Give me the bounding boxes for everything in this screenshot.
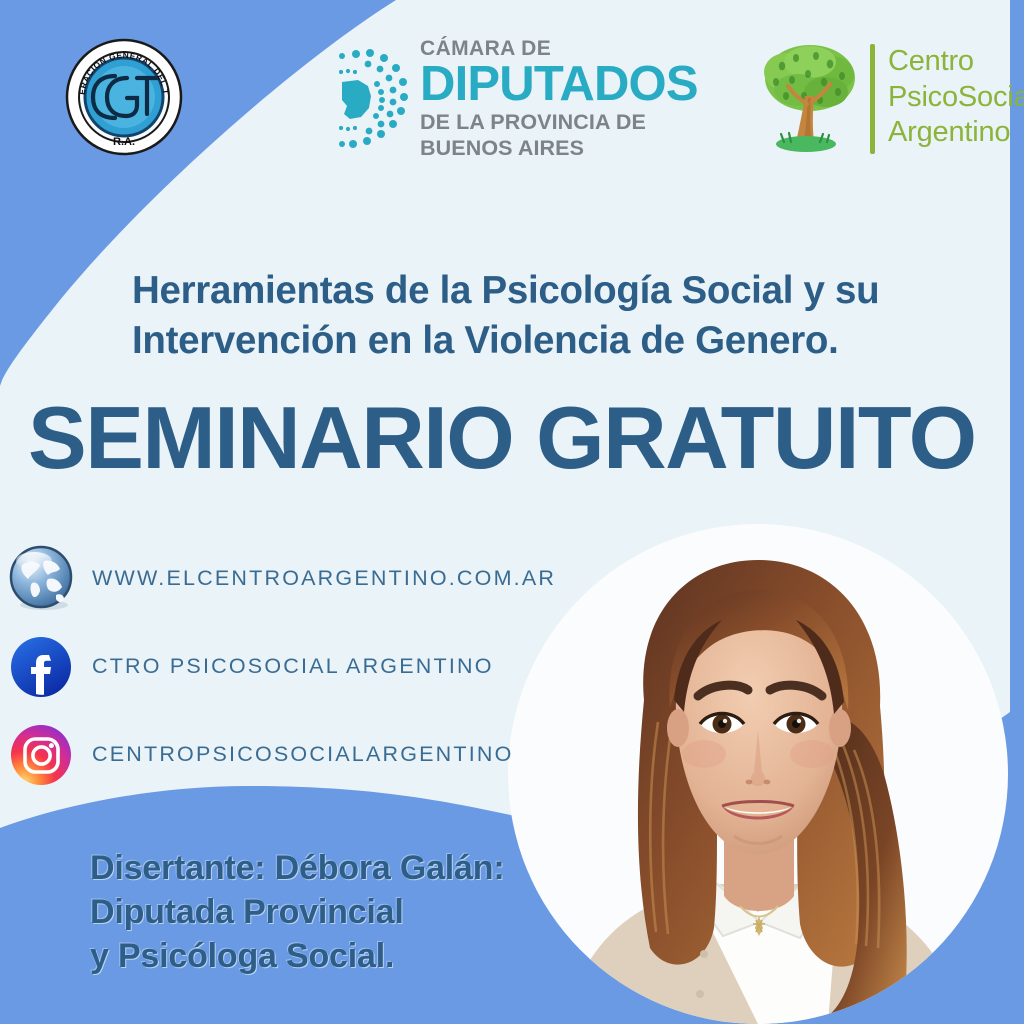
speaker-line3: y Psicóloga Social. xyxy=(90,934,560,978)
centro-line3: Argentino xyxy=(888,115,1024,151)
facebook-icon[interactable] xyxy=(8,633,76,701)
cgt-bottom-text: R.A. xyxy=(113,136,135,148)
centro-line1: Centro xyxy=(888,44,1024,80)
social-label-facebook[interactable]: CTRO PSICOSOCIAL ARGENTINO xyxy=(92,654,494,679)
social-label-website[interactable]: WWW.ELCENTROARGENTINO.COM.AR xyxy=(92,566,556,591)
cgt-logo: CONFEDERACION GENERAL DEL TRABAJO R.A. xyxy=(65,38,183,156)
subtitle-line1: Herramientas de la Psicología Social y s… xyxy=(132,266,932,316)
instagram-icon[interactable] xyxy=(8,721,76,789)
diputados-line3a: DE LA PROVINCIA DE xyxy=(420,110,720,134)
centro-wordmark: Centro PsicoSocial Argentino xyxy=(888,44,1024,151)
diputados-logo: CÁMARA DE DIPUTADOS DE LA PROVINCIA DE B… xyxy=(328,36,718,164)
cgt-seal-icon: CONFEDERACION GENERAL DEL TRABAJO R.A. xyxy=(65,38,183,156)
speaker-line2: Diputada Provincial xyxy=(90,890,560,934)
tree-icon xyxy=(758,38,862,156)
centro-divider-bar xyxy=(870,44,875,154)
diputados-line3b: BUENOS AIRES xyxy=(420,136,720,160)
social-links: WWW.ELCENTROARGENTINO.COM.AR CTRO PSICOS… xyxy=(0,540,520,804)
speaker-portrait xyxy=(508,524,1008,1024)
diputados-dotted-province-icon xyxy=(328,40,414,160)
page-title: SEMINARIO GRATUITO xyxy=(28,394,1013,482)
speaker-line1: Disertante: Débora Galán: xyxy=(90,846,560,890)
seminar-flyer: CONFEDERACION GENERAL DEL TRABAJO R.A. xyxy=(0,0,1024,1024)
social-label-instagram[interactable]: CENTROPSICOSOCIALARGENTINO xyxy=(92,742,514,767)
centro-line2: PsicoSocial xyxy=(888,80,1024,116)
social-row-instagram[interactable]: CENTROPSICOSOCIALARGENTINO xyxy=(0,716,520,804)
centro-psicosocial-logo: Centro PsicoSocial Argentino xyxy=(758,38,1008,160)
subtitle-line2: Intervención en la Violencia de Genero. xyxy=(132,316,932,366)
speaker-info: Disertante: Débora Galán: Diputada Provi… xyxy=(90,846,560,979)
seminar-subtitle: Herramientas de la Psicología Social y s… xyxy=(132,266,932,366)
logo-row: CONFEDERACION GENERAL DEL TRABAJO R.A. xyxy=(0,0,1024,195)
diputados-line2: DIPUTADOS xyxy=(420,61,720,108)
globe-icon[interactable] xyxy=(8,545,76,613)
social-row-facebook[interactable]: CTRO PSICOSOCIAL ARGENTINO xyxy=(0,628,520,716)
social-row-website[interactable]: WWW.ELCENTROARGENTINO.COM.AR xyxy=(0,540,520,628)
diputados-wordmark: CÁMARA DE DIPUTADOS DE LA PROVINCIA DE B… xyxy=(420,38,720,160)
